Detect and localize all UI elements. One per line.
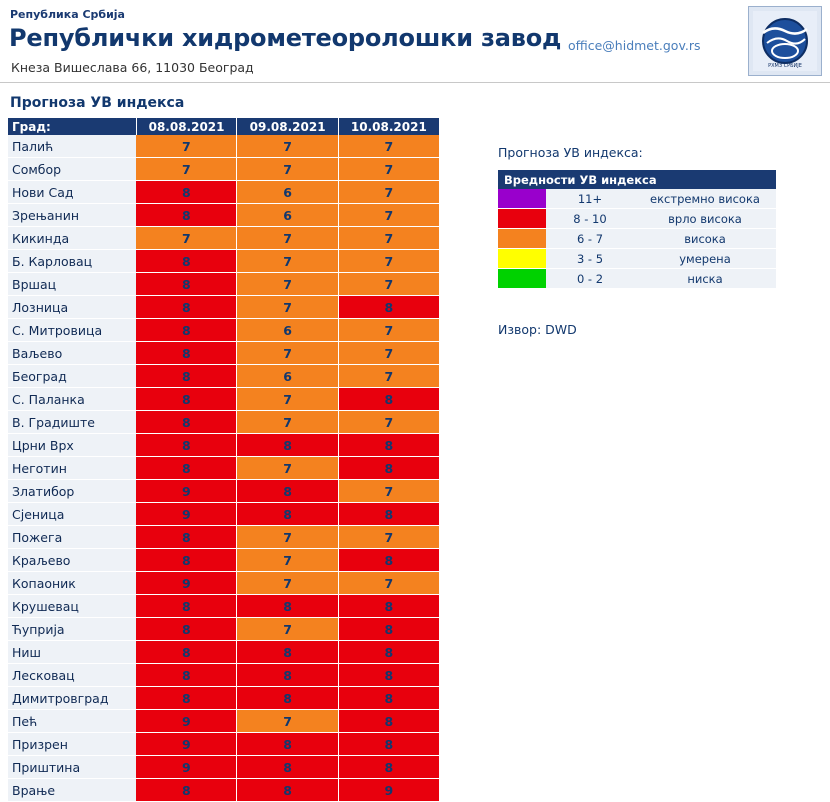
page-header: Република Србија Републички хидрометеоро… — [0, 0, 830, 83]
uv-value-day1: 7 — [136, 227, 237, 250]
legend-color-swatch — [498, 229, 546, 249]
city-name: Ћуприја — [8, 618, 136, 641]
uv-value-day1: 8 — [136, 434, 237, 457]
legend-range: 0 - 2 — [546, 269, 634, 289]
page-title: Прогноза УВ индекса — [10, 95, 184, 111]
column-header-day3: 10.08.2021 — [338, 118, 439, 135]
uv-value-day3: 7 — [338, 342, 439, 365]
uv-value-day3: 8 — [338, 595, 439, 618]
uv-value-day3: 7 — [338, 572, 439, 595]
legend-row: 6 - 7висока — [498, 229, 776, 249]
legend-description: умерена — [634, 249, 776, 269]
uv-value-day2: 7 — [237, 296, 338, 319]
uv-value-day1: 8 — [136, 204, 237, 227]
uv-value-day2: 7 — [237, 250, 338, 273]
uv-forecast-table: Град: 08.08.2021 09.08.2021 10.08.2021 П… — [8, 118, 440, 802]
legend-range: 3 - 5 — [546, 249, 634, 269]
city-name: Лозница — [8, 296, 136, 319]
uv-value-day2: 6 — [237, 365, 338, 388]
legend-description: висока — [634, 229, 776, 249]
uv-value-day2: 7 — [237, 273, 338, 296]
legend-color-swatch — [498, 189, 546, 209]
uv-value-day3: 8 — [338, 296, 439, 319]
legend-row: 11+екстремно висока — [498, 189, 776, 209]
uv-value-day2: 7 — [237, 158, 338, 181]
legend-row: 8 - 10врло висока — [498, 209, 776, 229]
uv-value-day2: 8 — [237, 756, 338, 779]
city-name: Призрен — [8, 733, 136, 756]
legend-body: 11+екстремно висока8 - 10врло висока6 - … — [498, 189, 776, 289]
city-name: С. Паланка — [8, 388, 136, 411]
uv-value-day3: 8 — [338, 388, 439, 411]
uv-value-day3: 8 — [338, 641, 439, 664]
table-row: В. Градиште877 — [8, 411, 440, 434]
uv-value-day2: 8 — [237, 503, 338, 526]
city-name: Врање — [8, 779, 136, 802]
uv-value-day3: 7 — [338, 273, 439, 296]
uv-value-day1: 8 — [136, 388, 237, 411]
uv-value-day2: 6 — [237, 204, 338, 227]
table-row: Крушевац888 — [8, 595, 440, 618]
table-row: Кикинда777 — [8, 227, 440, 250]
table-row: Б. Карловац877 — [8, 250, 440, 273]
legend-row: 0 - 2ниска — [498, 269, 776, 289]
uv-value-day3: 8 — [338, 434, 439, 457]
city-name: С. Митровица — [8, 319, 136, 342]
city-name: Димитровград — [8, 687, 136, 710]
legend-caption: Прогноза УВ индекса: — [498, 145, 643, 160]
city-name: Краљево — [8, 549, 136, 572]
uv-value-day2: 7 — [237, 549, 338, 572]
table-row: Сјеница988 — [8, 503, 440, 526]
city-name: В. Градиште — [8, 411, 136, 434]
uv-value-day1: 8 — [136, 687, 237, 710]
uv-value-day2: 7 — [237, 710, 338, 733]
uv-value-day2: 6 — [237, 319, 338, 342]
legend-color-swatch — [498, 269, 546, 289]
uv-value-day2: 8 — [237, 733, 338, 756]
uv-value-day2: 8 — [237, 595, 338, 618]
table-row: Ниш888 — [8, 641, 440, 664]
uv-value-day3: 7 — [338, 480, 439, 503]
table-row: Зрењанин867 — [8, 204, 440, 227]
source-label: Извор: DWD — [498, 322, 577, 337]
uv-value-day2: 7 — [237, 342, 338, 365]
city-name: Лесковац — [8, 664, 136, 687]
institution-title: Републички хидрометеоролошки завод — [9, 24, 561, 52]
uv-value-day2: 7 — [237, 411, 338, 434]
table-row: Краљево878 — [8, 549, 440, 572]
table-row: Палић777 — [8, 135, 440, 158]
uv-value-day2: 7 — [237, 388, 338, 411]
legend-row: 3 - 5умерена — [498, 249, 776, 269]
country-label: Република Србија — [10, 8, 125, 21]
uv-value-day2: 8 — [237, 641, 338, 664]
logo-svg: РХМЗ СРБИЈЕ — [753, 11, 817, 71]
uv-value-day3: 7 — [338, 319, 439, 342]
uv-value-day1: 7 — [136, 158, 237, 181]
uv-value-day1: 7 — [136, 135, 237, 158]
uv-value-day3: 8 — [338, 664, 439, 687]
uv-value-day1: 8 — [136, 618, 237, 641]
uv-value-day3: 7 — [338, 250, 439, 273]
uv-value-day3: 7 — [338, 365, 439, 388]
legend-head: Вредности УВ индекса — [498, 170, 776, 189]
uv-value-day1: 9 — [136, 710, 237, 733]
city-name: Копаоник — [8, 572, 136, 595]
uv-value-day2: 8 — [237, 687, 338, 710]
legend-title: Вредности УВ индекса — [498, 170, 776, 189]
column-header-day1: 08.08.2021 — [136, 118, 237, 135]
uv-value-day1: 9 — [136, 572, 237, 595]
city-name: Нови Сад — [8, 181, 136, 204]
uv-value-day3: 7 — [338, 227, 439, 250]
uv-value-day1: 8 — [136, 526, 237, 549]
table-row: Златибор987 — [8, 480, 440, 503]
uv-value-day1: 8 — [136, 365, 237, 388]
uv-value-day2: 8 — [237, 779, 338, 802]
column-header-city: Град: — [8, 118, 136, 135]
city-name: Ниш — [8, 641, 136, 664]
uv-value-day1: 8 — [136, 457, 237, 480]
table-row: Неготин878 — [8, 457, 440, 480]
table-row: Вршац877 — [8, 273, 440, 296]
legend-range: 11+ — [546, 189, 634, 209]
table-body: Палић777Сомбор777Нови Сад867Зрењанин867К… — [8, 135, 440, 802]
uv-value-day2: 7 — [237, 526, 338, 549]
city-name: Вршац — [8, 273, 136, 296]
uv-value-day3: 8 — [338, 733, 439, 756]
table-row: Димитровград888 — [8, 687, 440, 710]
uv-value-day1: 8 — [136, 664, 237, 687]
table-header-row: Град: 08.08.2021 09.08.2021 10.08.2021 — [8, 118, 440, 135]
table-row: Црни Врх888 — [8, 434, 440, 457]
uv-value-day1: 8 — [136, 181, 237, 204]
table-row: Нови Сад867 — [8, 181, 440, 204]
uv-value-day1: 9 — [136, 480, 237, 503]
uv-value-day3: 8 — [338, 457, 439, 480]
table-row: Лозница878 — [8, 296, 440, 319]
institution-address: Кнеза Вишеслава 66, 11030 Београд — [11, 60, 254, 75]
uv-value-day3: 8 — [338, 618, 439, 641]
table-row: Сомбор777 — [8, 158, 440, 181]
table-row: Београд867 — [8, 365, 440, 388]
table-row: Ваљево877 — [8, 342, 440, 365]
uv-value-day1: 8 — [136, 319, 237, 342]
table-row: С. Митровица867 — [8, 319, 440, 342]
city-name: Зрењанин — [8, 204, 136, 227]
legend-color-swatch — [498, 209, 546, 229]
legend-description: екстремно висока — [634, 189, 776, 209]
table-row: Приштина988 — [8, 756, 440, 779]
legend-color-swatch — [498, 249, 546, 269]
table-row: Лесковац888 — [8, 664, 440, 687]
uv-value-day3: 7 — [338, 181, 439, 204]
uv-value-day3: 8 — [338, 756, 439, 779]
uv-value-day1: 8 — [136, 411, 237, 434]
uv-value-day2: 8 — [237, 434, 338, 457]
city-name: Кикинда — [8, 227, 136, 250]
uv-value-day1: 9 — [136, 733, 237, 756]
uv-value-day1: 8 — [136, 296, 237, 319]
table-row: Врање889 — [8, 779, 440, 802]
table-row: Ћуприја878 — [8, 618, 440, 641]
city-name: Сјеница — [8, 503, 136, 526]
uv-value-day1: 8 — [136, 641, 237, 664]
table-row: Пожега877 — [8, 526, 440, 549]
city-name: Б. Карловац — [8, 250, 136, 273]
city-name: Крушевац — [8, 595, 136, 618]
uv-value-day2: 8 — [237, 664, 338, 687]
city-name: Црни Врх — [8, 434, 136, 457]
uv-value-day2: 7 — [237, 135, 338, 158]
uv-value-day2: 6 — [237, 181, 338, 204]
uv-value-day3: 7 — [338, 158, 439, 181]
rhmz-logo: РХМЗ СРБИЈЕ — [748, 6, 822, 76]
uv-value-day1: 8 — [136, 273, 237, 296]
uv-value-day1: 9 — [136, 503, 237, 526]
uv-value-day1: 8 — [136, 549, 237, 572]
table-row: С. Паланка878 — [8, 388, 440, 411]
uv-value-day3: 8 — [338, 549, 439, 572]
city-name: Сомбор — [8, 158, 136, 181]
uv-value-day2: 7 — [237, 572, 338, 595]
column-header-day2: 09.08.2021 — [237, 118, 338, 135]
uv-value-day3: 8 — [338, 503, 439, 526]
contact-email-link[interactable]: office@hidmet.gov.rs — [568, 38, 701, 53]
uv-value-day1: 8 — [136, 595, 237, 618]
svg-text:РХМЗ СРБИЈЕ: РХМЗ СРБИЈЕ — [768, 63, 802, 69]
city-name: Палић — [8, 135, 136, 158]
table-row: Копаоник977 — [8, 572, 440, 595]
city-name: Пећ — [8, 710, 136, 733]
city-name: Неготин — [8, 457, 136, 480]
legend-header-row: Вредности УВ индекса — [498, 170, 776, 189]
city-name: Златибор — [8, 480, 136, 503]
table-head: Град: 08.08.2021 09.08.2021 10.08.2021 — [8, 118, 440, 135]
logo-emblem-icon: РХМЗ СРБИЈЕ — [753, 11, 817, 71]
uv-value-day2: 7 — [237, 618, 338, 641]
uv-value-day3: 7 — [338, 411, 439, 434]
city-name: Приштина — [8, 756, 136, 779]
uv-value-day3: 8 — [338, 687, 439, 710]
uv-value-day3: 7 — [338, 526, 439, 549]
legend-range: 6 - 7 — [546, 229, 634, 249]
uv-value-day1: 9 — [136, 756, 237, 779]
uv-value-day2: 8 — [237, 480, 338, 503]
table-row: Призрен988 — [8, 733, 440, 756]
uv-value-day3: 9 — [338, 779, 439, 802]
table-row: Пећ978 — [8, 710, 440, 733]
legend-range: 8 - 10 — [546, 209, 634, 229]
uv-value-day3: 7 — [338, 135, 439, 158]
uv-legend-table: Вредности УВ индекса 11+екстремно висока… — [498, 170, 776, 289]
uv-value-day3: 7 — [338, 204, 439, 227]
uv-value-day2: 7 — [237, 227, 338, 250]
uv-value-day2: 7 — [237, 457, 338, 480]
legend-description: ниска — [634, 269, 776, 289]
city-name: Ваљево — [8, 342, 136, 365]
uv-value-day1: 8 — [136, 250, 237, 273]
city-name: Београд — [8, 365, 136, 388]
city-name: Пожега — [8, 526, 136, 549]
uv-value-day1: 8 — [136, 342, 237, 365]
uv-value-day1: 8 — [136, 779, 237, 802]
legend-description: врло висока — [634, 209, 776, 229]
uv-value-day3: 8 — [338, 710, 439, 733]
